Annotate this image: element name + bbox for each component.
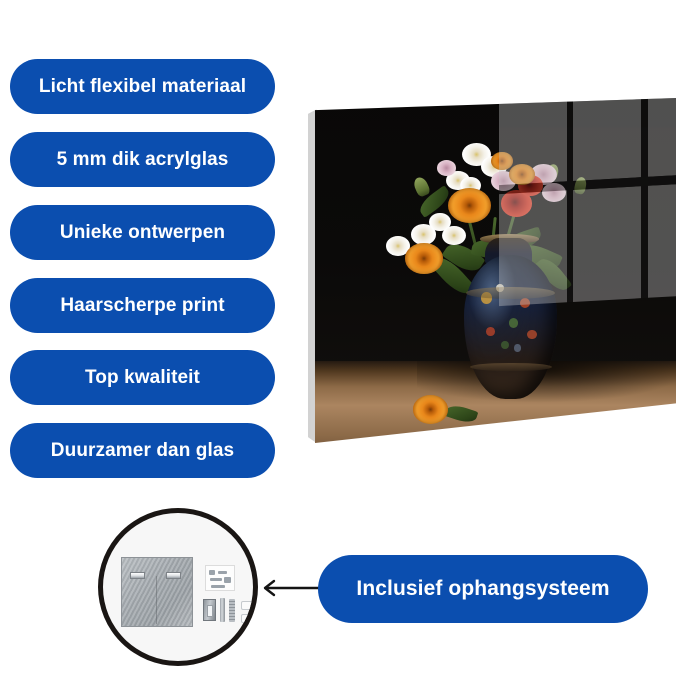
hanging-system-callout-label: Inclusief ophangsysteem (356, 577, 609, 601)
acrylic-art-panel (308, 98, 676, 443)
spacer-pad (241, 601, 252, 610)
feature-badge-2[interactable]: 5 mm dik acrylglas (10, 132, 275, 187)
feature-badge-4[interactable]: Haarscherpe print (10, 278, 275, 333)
artwork-orange-flower (405, 243, 442, 273)
feature-badge-3-label: Unieke ontwerpen (60, 222, 225, 244)
feature-badge-5-label: Top kwaliteit (85, 367, 200, 389)
feature-badge-list: Licht flexibel materiaal 5 mm dik acrylg… (0, 0, 290, 500)
artwork-pink-flower (437, 160, 457, 176)
feature-badge-6[interactable]: Duurzamer dan glas (10, 423, 275, 478)
screw (220, 598, 225, 622)
hanging-system-closeup (98, 508, 258, 666)
window-reflection-overlay (499, 98, 676, 307)
callout-connector-arrow (256, 578, 324, 598)
feature-badge-3[interactable]: Unieke ontwerpen (10, 205, 275, 260)
instruction-card (205, 565, 235, 591)
feature-badge-4-label: Haarscherpe print (60, 295, 224, 317)
wall-bracket (203, 599, 216, 621)
aluminium-mounting-plate (121, 557, 193, 627)
mounting-plate-slot (166, 572, 181, 579)
wall-plug (229, 599, 235, 622)
spacer-pad (241, 614, 252, 623)
feature-badge-1[interactable]: Licht flexibel materiaal (10, 59, 275, 114)
mounting-plate-centerline (156, 576, 157, 624)
feature-badge-5[interactable]: Top kwaliteit (10, 350, 275, 405)
artwork-image (308, 98, 676, 443)
feature-badge-1-label: Licht flexibel materiaal (39, 76, 246, 98)
wall-bracket-hole (207, 605, 213, 617)
feature-badge-6-label: Duurzamer dan glas (51, 440, 234, 462)
hanging-system-callout-badge[interactable]: Inclusief ophangsysteem (318, 555, 648, 623)
mounting-plate-slot (130, 572, 145, 579)
artwork-white-flower (442, 226, 465, 245)
feature-badge-2-label: 5 mm dik acrylglas (57, 149, 229, 171)
artwork-fallen-flower (413, 395, 448, 423)
